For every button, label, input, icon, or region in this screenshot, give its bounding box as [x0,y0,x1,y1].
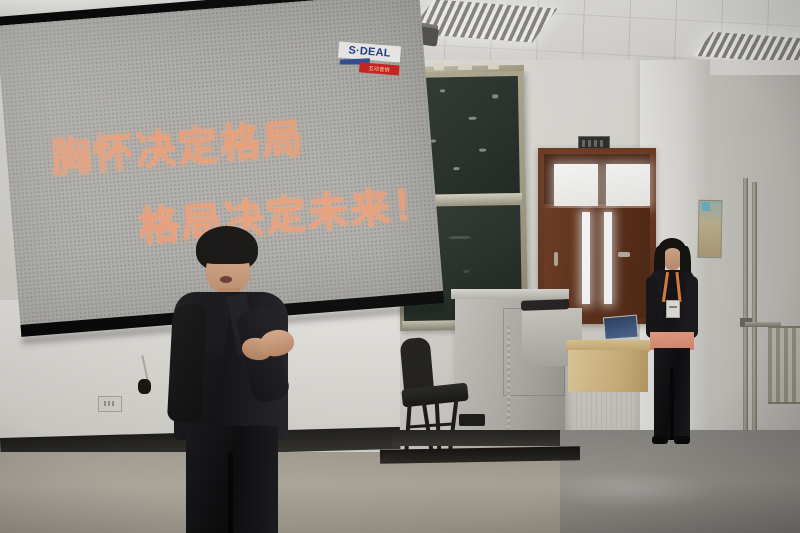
photo-scene: 胸怀决定格局 格局决定未来！ 电话:13107888 QQ：258825 邮箱 … [0,0,800,533]
photo-vignette [0,0,800,533]
